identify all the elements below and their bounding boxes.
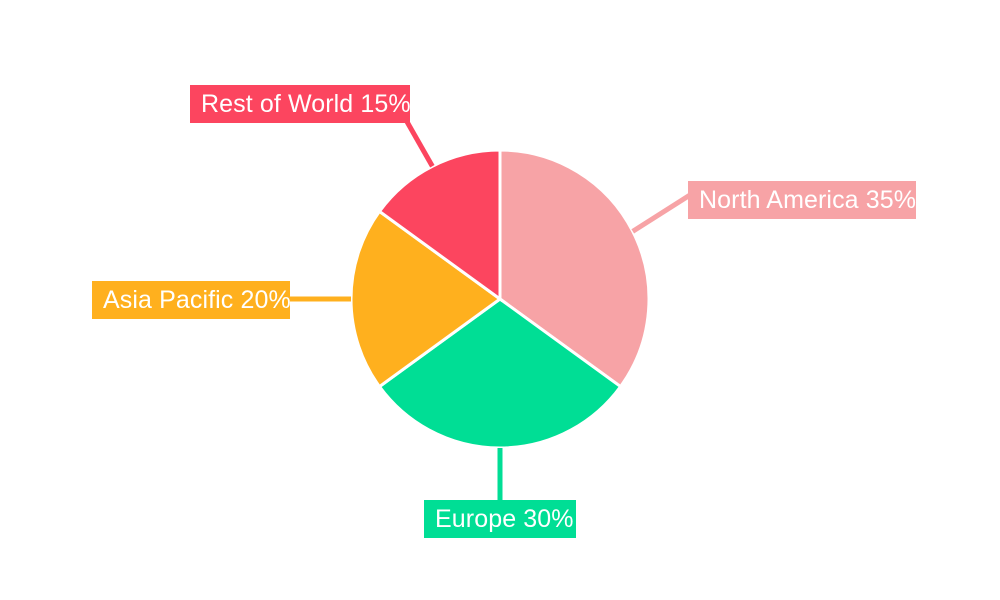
pie-label-asia-pacific[interactable]: Asia Pacific 20% (92, 281, 290, 319)
pie-label-europe[interactable]: Europe 30% (424, 500, 576, 538)
pie-label-north-america[interactable]: North America 35% (688, 181, 916, 219)
leader-line-north-america (633, 195, 690, 231)
leader-line-rest-of-world (406, 120, 432, 166)
pie-slices (351, 150, 649, 448)
pie-label-asia-pacific-text: Asia Pacific 20% (103, 288, 291, 313)
pie-label-north-america-text: North America 35% (699, 188, 916, 213)
pie-label-rest-of-world-text: Rest of World 15% (201, 92, 411, 117)
pie-label-europe-text: Europe 30% (435, 507, 574, 532)
pie-label-rest-of-world[interactable]: Rest of World 15% (190, 85, 410, 123)
pie-chart: North America 35% Europe 30% Asia Pacifi… (0, 0, 1000, 600)
